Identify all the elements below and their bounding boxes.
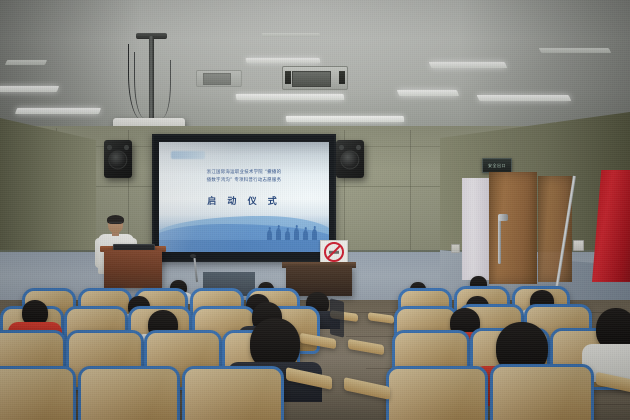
light-switch[interactable]	[573, 240, 584, 251]
speaker-tweeter	[124, 145, 128, 150]
wooden-lectern	[104, 250, 162, 288]
door-frame	[462, 178, 490, 280]
ceiling-strip-light	[286, 116, 405, 122]
projection-screen-surface: 浙江国际海运职业技术学院 “撒播的 播数字鸿沟” 专项科普行动志愿服务 启 动 …	[159, 142, 329, 252]
institution-logo-icon	[171, 151, 205, 159]
projection-screen: 浙江国际海运职业技术学院 “撒播的 播数字鸿沟” 专项科普行动志愿服务 启 动 …	[152, 134, 336, 262]
slide-person-silhouette	[294, 228, 299, 240]
ceiling-ac-vent	[282, 66, 348, 90]
ceiling-strip-light	[5, 60, 47, 65]
slide-person-silhouette	[285, 231, 290, 240]
ceiling-ac-vent	[196, 70, 242, 87]
speaker-woofer	[340, 150, 359, 169]
door-handle[interactable]	[498, 218, 501, 264]
lecture-seat[interactable]	[78, 366, 180, 420]
wall-speaker-right	[336, 140, 364, 178]
lecture-seat[interactable]	[182, 366, 284, 420]
ac-vent-grille	[292, 71, 331, 87]
ceiling-strip-light	[15, 108, 101, 114]
speaker-woofer	[108, 150, 127, 169]
ceiling-strip-light	[262, 33, 321, 37]
lecture-seat[interactable]	[490, 364, 594, 420]
lecture-hall-photo: 浙江国际海运职业技术学院 “撒播的 播数字鸿沟” 专项科普行动志愿服务 启 动 …	[0, 0, 630, 420]
ceiling-strip-light	[477, 95, 572, 101]
exit-door[interactable]	[489, 172, 537, 284]
ceiling-strip-light	[539, 48, 612, 53]
door-handle-bracket	[498, 214, 508, 221]
ceiling-strip-light	[397, 90, 459, 96]
ceiling-strip-light	[246, 58, 321, 63]
slide-person-silhouette	[303, 230, 308, 240]
slide-subtitle-line-1: 浙江国际海运职业技术学院 “撒播的	[159, 169, 329, 175]
speaker-tweeter	[356, 145, 360, 150]
projector-cable	[134, 52, 151, 118]
wall-panel-seam	[410, 130, 411, 252]
ceiling-strip-light	[236, 94, 345, 100]
speaker-tweeter	[339, 145, 343, 150]
microphone-head	[190, 254, 196, 258]
slide-person-silhouette	[312, 229, 317, 240]
slide-person-silhouette	[267, 230, 272, 240]
exit-sign: 安全出口	[482, 158, 512, 173]
light-switch[interactable]	[451, 244, 460, 253]
ceiling-strip-light	[429, 62, 508, 68]
slide-wave-graphic	[159, 240, 329, 252]
lecture-seat[interactable]	[0, 366, 76, 420]
slide-subtitle-line-2: 播数字鸿沟” 专项科普行动志愿服务	[159, 177, 329, 183]
lecture-seat[interactable]	[386, 366, 488, 420]
seat-aisle-shadow	[330, 298, 344, 337]
slide-person-silhouette	[276, 228, 281, 240]
ac-vent-louver	[285, 71, 291, 84]
slide-main-title: 启 动 仪 式	[159, 194, 329, 207]
ceiling-strip-light	[0, 86, 59, 92]
ac-vent-grille	[203, 73, 231, 85]
speaker-tweeter	[107, 145, 111, 150]
wall-speaker-left	[104, 140, 132, 178]
presenter-glasses	[109, 222, 122, 226]
exit-sign-label: 安全出口	[483, 159, 511, 172]
ac-vent-louver	[339, 71, 345, 84]
